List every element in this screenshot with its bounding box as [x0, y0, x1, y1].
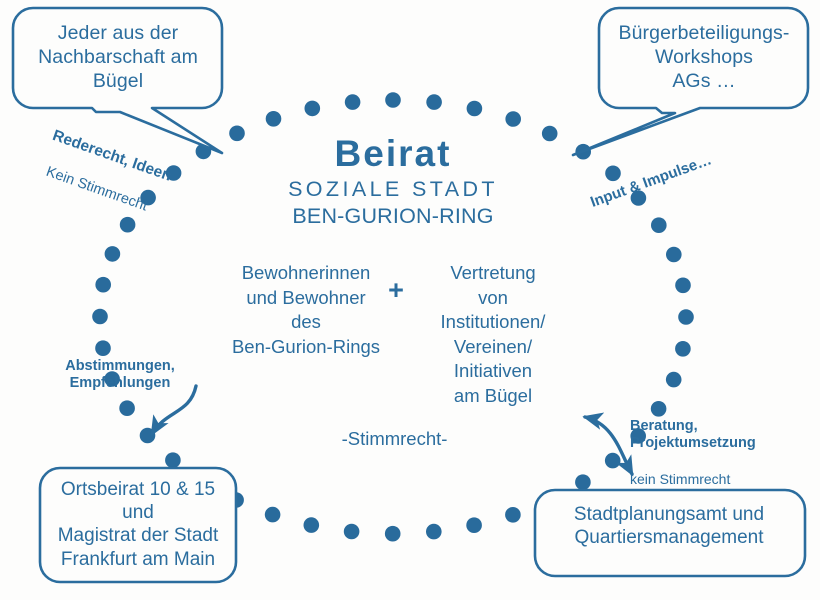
- group-vertretung: Vertretung von Institutionen/ Vereinen/ …: [418, 261, 568, 409]
- bubble-neighbourhood-label: Jeder aus der Nachbarschaft am Bügel: [18, 22, 218, 93]
- box-ortsbeirat-label: Ortsbeirat 10 & 15 und Magistrat der Sta…: [42, 478, 234, 571]
- bubble-workshops-label: Bürgerbeteiligungs- Workshops AGs …: [604, 22, 804, 93]
- label-beratung-bold: Beratung, Projektumsetzung: [630, 418, 800, 453]
- box-stadtplanungsamt-label: Stadtplanungsamt und Quartiersmanagement: [538, 503, 800, 549]
- note-stimmrecht: -Stimmrecht-: [312, 428, 477, 451]
- label-beratung-regular: kein Stimmrecht: [630, 471, 800, 488]
- page-title: Beirat: [273, 131, 513, 176]
- diagram-canvas: Jeder aus der Nachbarschaft am Bügel Bür…: [0, 0, 820, 600]
- label-beratung: Beratung, Projektumsetzung kein Stimmrec…: [630, 400, 800, 506]
- subtitle-soziale-stadt: SOZIALE STADT: [273, 176, 513, 202]
- label-abstimmungen: Abstimmungen, Empfehlungen: [40, 358, 200, 393]
- arrow-abstimmungen: [152, 386, 196, 434]
- subtitle-ben-gurion-ring: BEN-GURION-RING: [273, 203, 513, 229]
- plus-icon: +: [382, 277, 410, 304]
- group-bewohner: Bewohnerinnen und Bewohner des Ben-Gurio…: [218, 261, 394, 359]
